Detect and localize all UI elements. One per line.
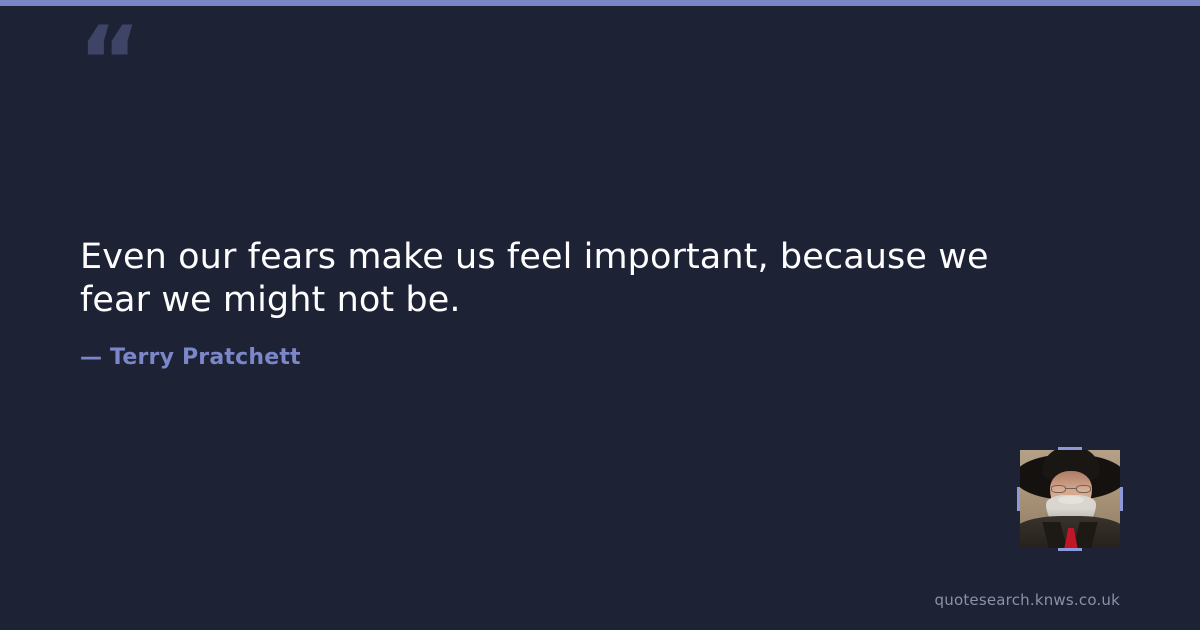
portrait-moustache [1058, 496, 1084, 504]
frame-tick-bottom [1058, 548, 1082, 551]
source-watermark: quotesearch.knws.co.uk [935, 591, 1120, 609]
frame-tick-left [1017, 487, 1020, 511]
quote-text: Even our fears make us feel important, b… [80, 236, 1020, 322]
portrait-lens-right [1076, 485, 1091, 493]
author-portrait [1020, 450, 1120, 548]
top-accent-bar [0, 0, 1200, 6]
background-seam-upper [0, 176, 1200, 177]
quote-attribution: — Terry Pratchett [80, 345, 1020, 370]
author-portrait-image [1020, 450, 1120, 548]
quotation-mark-icon: “ [78, 14, 139, 110]
portrait-glasses [1051, 485, 1091, 493]
quote-block: Even our fears make us feel important, b… [80, 236, 1020, 370]
frame-tick-right [1120, 487, 1123, 511]
portrait-lens-left [1051, 485, 1066, 493]
frame-tick-top [1058, 447, 1082, 450]
portrait-glasses-bridge [1066, 488, 1076, 489]
